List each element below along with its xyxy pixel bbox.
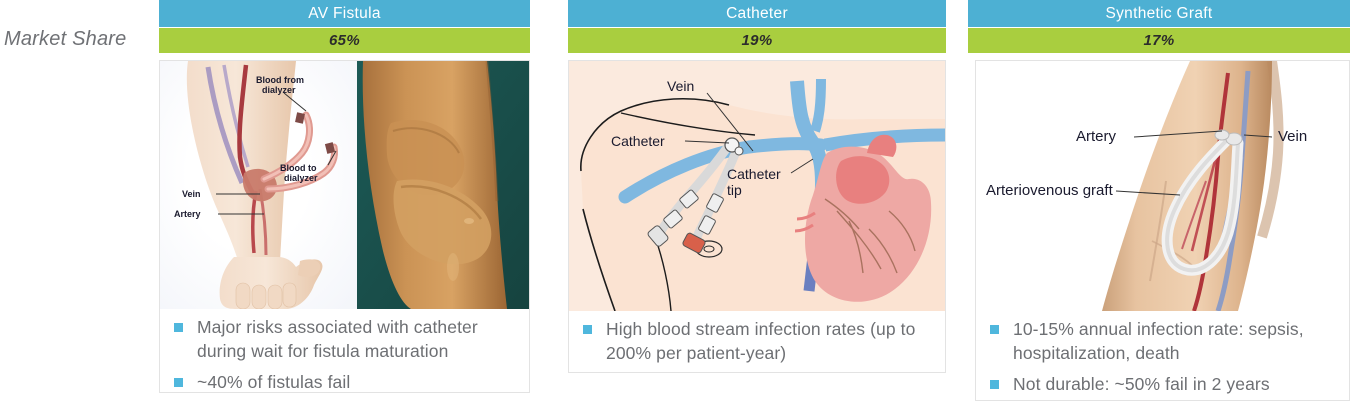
bullets-catheter: High blood stream infection rates (up to… <box>569 311 945 369</box>
central-venous-catheter-chest-diagram: Vein Catheter Catheter tip <box>569 61 945 311</box>
card-catheter: Vein Catheter Catheter tip High blood st… <box>568 60 946 373</box>
av-fistula-forearm-diagram: Blood from dialyzer Blood to dialyzer Ve… <box>160 61 357 309</box>
illustration-synthetic-graft: Artery Vein Arteriovenous graft <box>976 61 1349 311</box>
bullet-text: 10-15% annual infection rate: sepsis, ho… <box>1013 317 1341 365</box>
bullet-square-icon <box>990 325 999 334</box>
bullet-item: Not durable: ~50% fail in 2 years <box>984 372 1341 396</box>
label-blood-from-dialyzer: Blood from <box>256 75 304 85</box>
label-catheter-tip: Catheter <box>727 166 781 182</box>
market-share-value-synthetic-graft: 17% <box>968 28 1350 53</box>
card-av-fistula: Blood from dialyzer Blood to dialyzer Ve… <box>159 60 530 393</box>
label-catheter: Catheter <box>611 133 665 149</box>
label-vein: Vein <box>667 78 694 94</box>
label-vein: Vein <box>1278 128 1307 145</box>
label-artery: Artery <box>174 209 201 219</box>
illustration-av-fistula: Blood from dialyzer Blood to dialyzer Ve… <box>160 61 529 309</box>
bullet-square-icon <box>174 323 183 332</box>
row-label-market-share: Market Share <box>4 28 154 51</box>
bullets-av-fistula: Major risks associated with catheter dur… <box>160 309 529 393</box>
label-artery: Artery <box>1076 128 1117 145</box>
bullet-text: High blood stream infection rates (up to… <box>606 317 937 365</box>
card-synthetic-graft: Artery Vein Arteriovenous graft 10-15% a… <box>975 60 1350 401</box>
vascular-access-comparison-slide: Market Share AV Fistula 65% <box>0 0 1350 406</box>
market-share-value-av-fistula: 65% <box>159 28 530 53</box>
column-synthetic-graft: Synthetic Graft 17% <box>968 0 1350 53</box>
column-header-av-fistula: AV Fistula <box>159 0 530 27</box>
label-vein: Vein <box>182 189 201 199</box>
bullet-text: Major risks associated with catheter dur… <box>197 315 521 363</box>
bullet-text: Not durable: ~50% fail in 2 years <box>1013 372 1270 396</box>
market-share-value-catheter: 19% <box>568 28 946 53</box>
bullets-synthetic-graft: 10-15% annual infection rate: sepsis, ho… <box>976 311 1349 400</box>
arteriovenous-graft-arm-diagram: Artery Vein Arteriovenous graft <box>976 61 1349 311</box>
bullet-square-icon <box>990 380 999 389</box>
label-arteriovenous-graft: Arteriovenous graft <box>986 182 1114 199</box>
column-header-catheter: Catheter <box>568 0 946 27</box>
bullet-text: ~40% of fistulas fail <box>197 370 350 393</box>
svg-text:dialyzer: dialyzer <box>262 85 296 95</box>
illustration-catheter: Vein Catheter Catheter tip <box>569 61 945 311</box>
av-fistula-clinical-photo <box>357 61 529 309</box>
svg-text:tip: tip <box>727 182 742 198</box>
svg-text:dialyzer: dialyzer <box>284 173 318 183</box>
bullet-item: ~40% of fistulas fail <box>168 370 521 393</box>
bullet-item: Major risks associated with catheter dur… <box>168 315 521 363</box>
bullet-item: 10-15% annual infection rate: sepsis, ho… <box>984 317 1341 365</box>
label-blood-to-dialyzer: Blood to <box>280 163 317 173</box>
bullet-square-icon <box>174 378 183 387</box>
bullet-square-icon <box>583 325 592 334</box>
column-header-synthetic-graft: Synthetic Graft <box>968 0 1350 27</box>
column-av-fistula: AV Fistula 65% <box>159 0 530 53</box>
bullet-item: High blood stream infection rates (up to… <box>577 317 937 365</box>
column-catheter: Catheter 19% <box>568 0 946 53</box>
